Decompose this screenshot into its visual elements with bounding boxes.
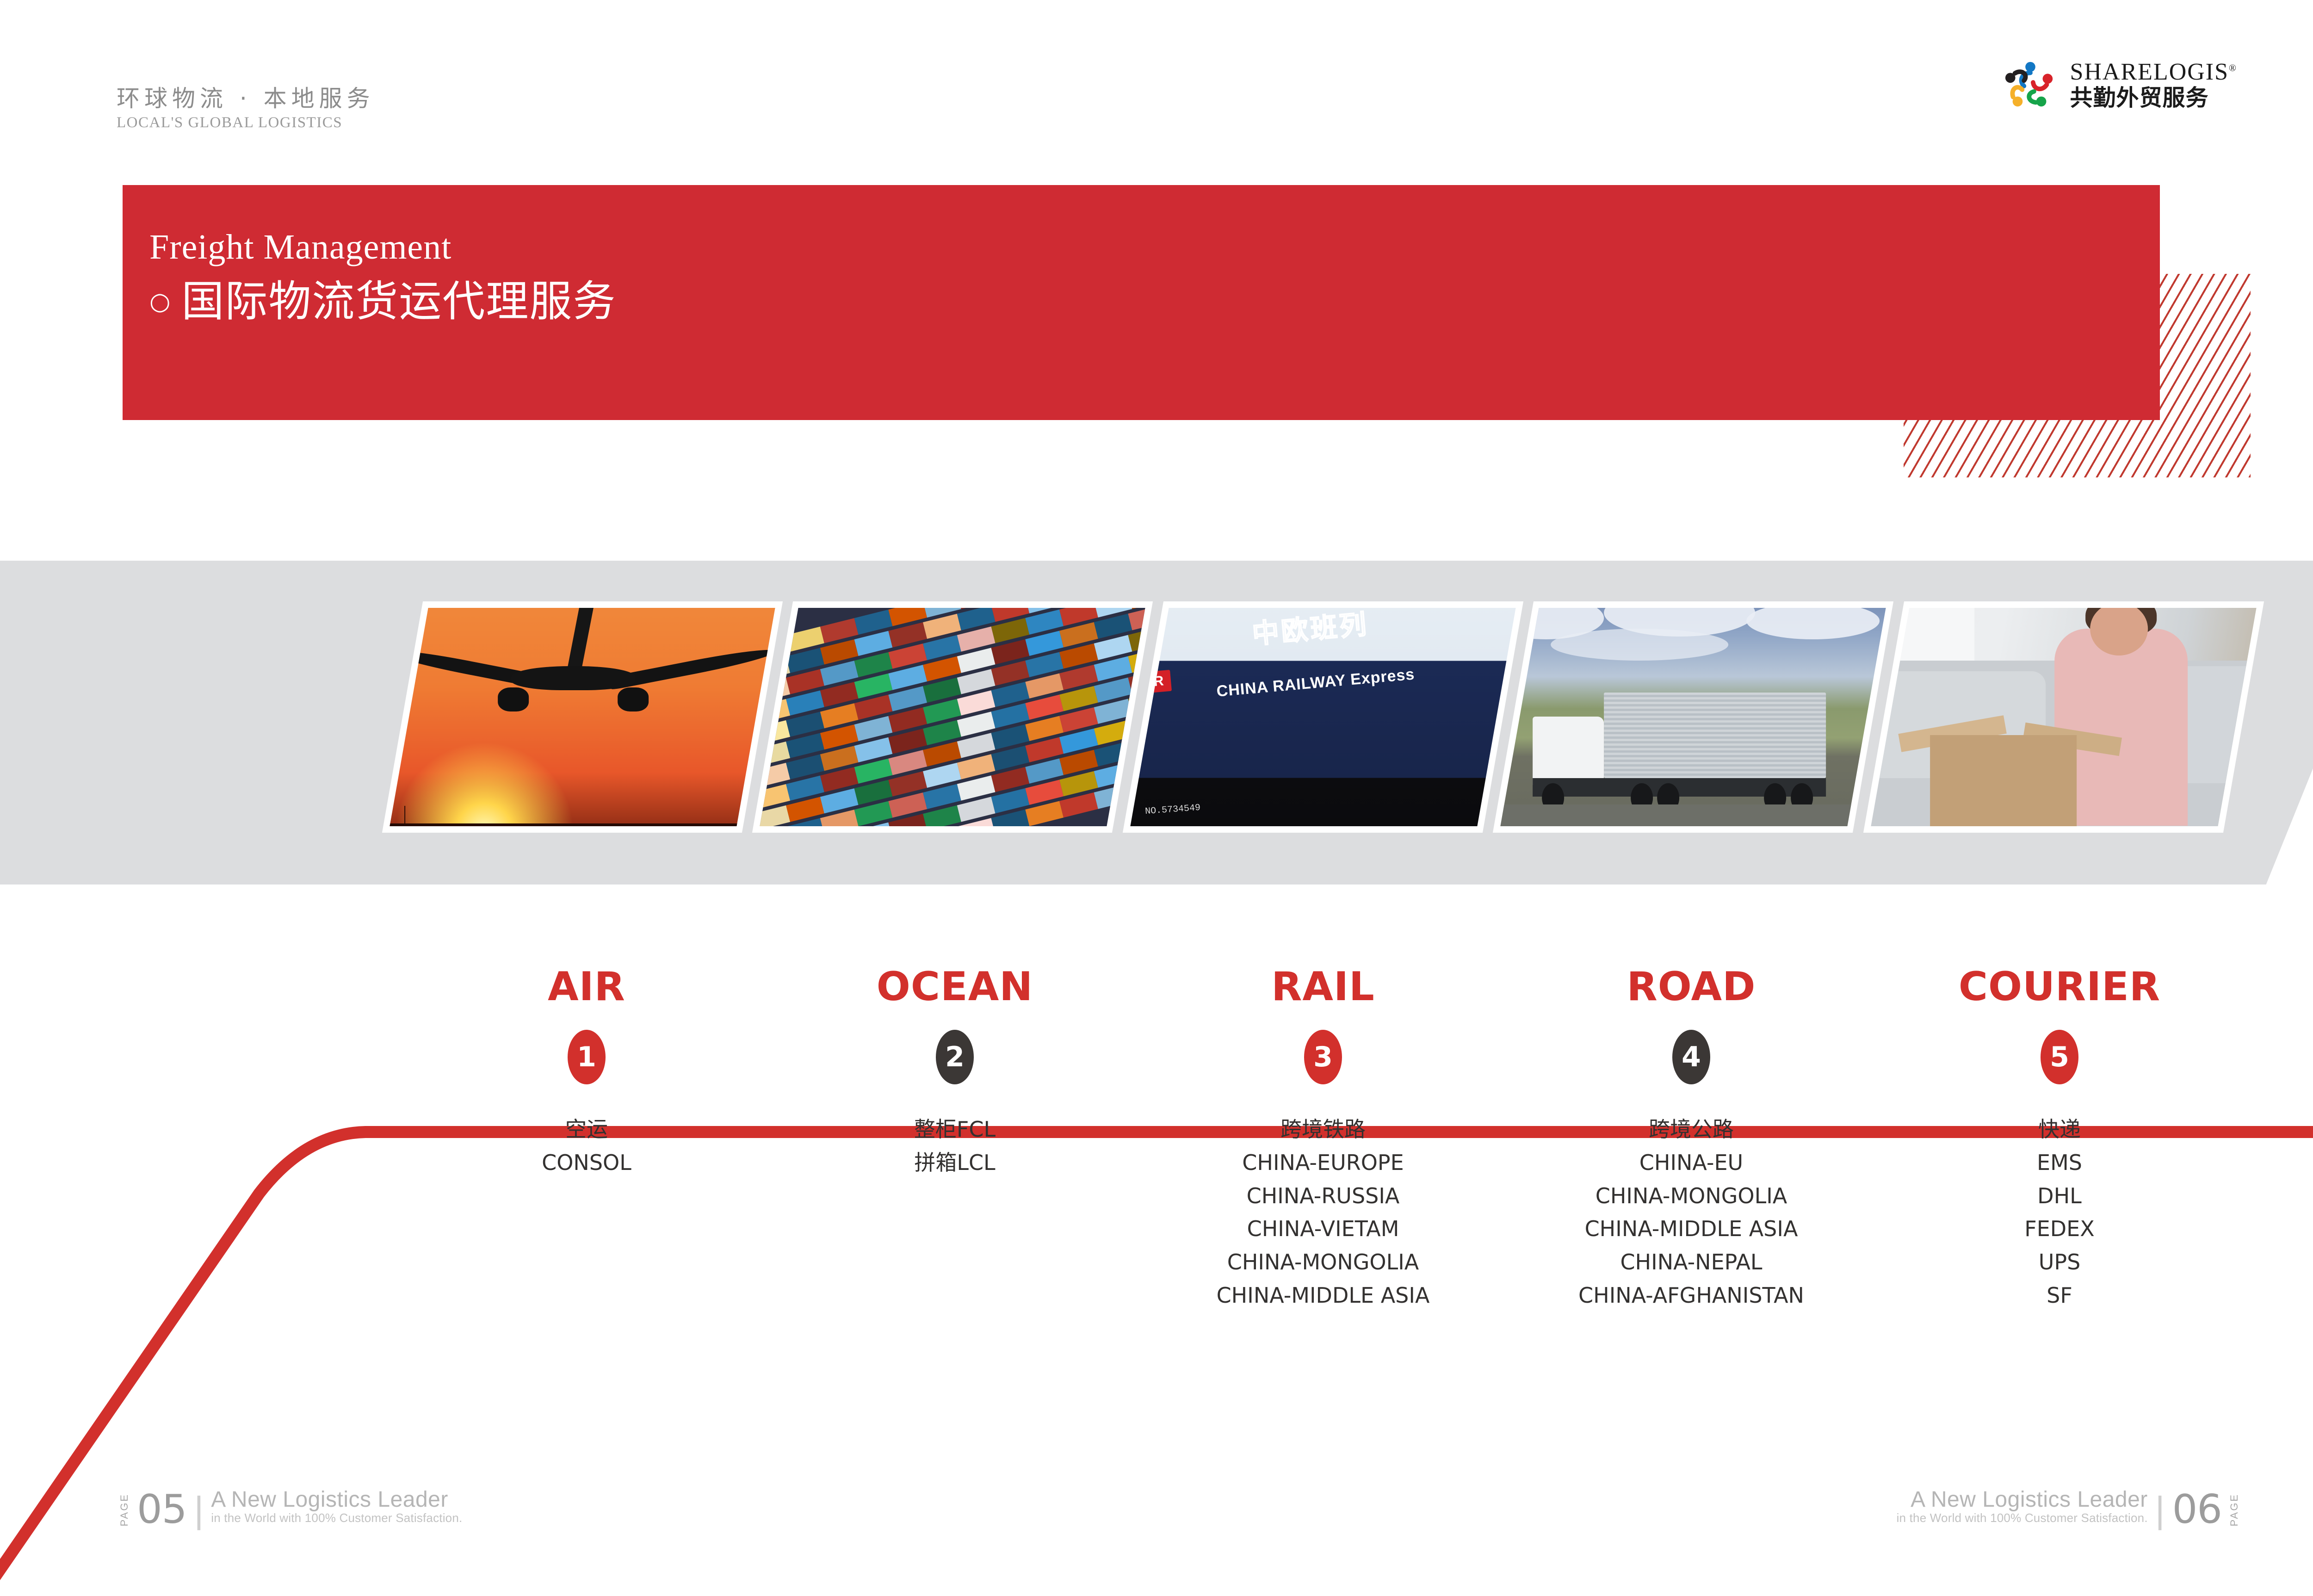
timeline-marker-3[interactable]: 3 <box>1304 1030 1342 1084</box>
banner-bullet-icon: ○ <box>149 290 171 314</box>
footer-right: A New Logistics Leader in the World with… <box>1897 1489 2239 1527</box>
list-item: CHINA-VIETAM <box>1217 1212 1430 1246</box>
list-item: CHINA-MIDDLE ASIA <box>1578 1212 1804 1246</box>
mode-items-road: 跨境公路 CHINA-EU CHINA-MONGOLIA CHINA-MIDDL… <box>1578 1113 1804 1312</box>
banner-title-cn: 国际物流货运代理服务 <box>181 280 616 323</box>
list-item: UPS <box>2024 1246 2095 1279</box>
section-banner: Freight Management ○ 国际物流货运代理服务 <box>123 185 2160 420</box>
list-item: 整柜FCL <box>914 1113 996 1146</box>
transport-photo-strip: 中欧班列 CR CHINA RAILWAY Express NO.5734549 <box>402 601 2244 833</box>
mode-items-air: 空运 CONSOL <box>542 1113 631 1180</box>
slide-root: 环球物流 · 本地服务 LOCAL'S GLOBAL LOGISTICS <box>0 0 2313 1596</box>
timeline-marker-4[interactable]: 4 <box>1672 1030 1710 1084</box>
footer-slogan-line1: A New Logistics Leader <box>1911 1489 2148 1511</box>
list-item: CHINA-NEPAL <box>1578 1246 1804 1279</box>
photo-road <box>1493 601 1894 833</box>
brand-tagline: 环球物流 · 本地服务 LOCAL'S GLOBAL LOGISTICS <box>117 86 440 131</box>
list-item: 快递 <box>2024 1113 2095 1146</box>
list-item: CHINA-MONGOLIA <box>1217 1246 1430 1279</box>
list-item: CHINA-AFGHANISTAN <box>1578 1279 1804 1312</box>
footer-slogan-line2: in the World with 100% Customer Satisfac… <box>1897 1511 2148 1525</box>
footer-slogan-line1: A New Logistics Leader <box>211 1489 462 1511</box>
section-banner-text: Freight Management ○ 国际物流货运代理服务 <box>149 229 616 323</box>
list-item: SF <box>2024 1279 2095 1312</box>
footer-slogan-right: A New Logistics Leader in the World with… <box>1897 1489 2148 1527</box>
rail-container-cn-text: 中欧班列 <box>1250 608 1369 651</box>
page-number-right: 06 <box>2172 1493 2222 1527</box>
timeline-col-rail[interactable]: RAIL 3 跨境铁路 CHINA-EUROPE CHINA-RUSSIA CH… <box>1139 967 1507 1312</box>
timeline-col-ocean[interactable]: OCEAN 2 整柜FCL 拼箱LCL <box>771 967 1139 1312</box>
rail-container-serial: NO.5734549 <box>1144 803 1200 817</box>
list-item: 跨境公路 <box>1578 1113 1804 1146</box>
mode-label-courier: COURIER <box>1959 967 2160 1007</box>
list-item: DHL <box>2024 1180 2095 1213</box>
footer-slogan-line2: in the World with 100% Customer Satisfac… <box>211 1511 462 1525</box>
timeline-marker-5[interactable]: 5 <box>2041 1030 2078 1084</box>
timeline-col-air[interactable]: AIR 1 空运 CONSOL <box>402 967 771 1312</box>
mode-items-rail: 跨境铁路 CHINA-EUROPE CHINA-RUSSIA CHINA-VIE… <box>1217 1113 1430 1312</box>
list-item: CHINA-RUSSIA <box>1217 1180 1430 1213</box>
rail-container-en-text: CHINA RAILWAY Express <box>1216 665 1416 700</box>
photo-air <box>382 601 783 833</box>
timeline-marker-1[interactable]: 1 <box>568 1030 606 1084</box>
list-item: 拼箱LCL <box>914 1146 996 1180</box>
list-item: FEDEX <box>2024 1212 2095 1246</box>
page-label-left: PAGE <box>119 1491 130 1527</box>
brand-tagline-cn: 环球物流 · 本地服务 <box>117 86 440 112</box>
list-item: CHINA-EUROPE <box>1217 1146 1430 1180</box>
footer-divider-left: | <box>194 1493 204 1527</box>
page-number-left: 05 <box>137 1493 186 1527</box>
mode-items-courier: 快递 EMS DHL FEDEX UPS SF <box>2024 1113 2095 1312</box>
photo-rail: 中欧班列 CR CHINA RAILWAY Express NO.5734549 <box>1123 601 1524 833</box>
list-item: EMS <box>2024 1146 2095 1180</box>
list-item: CHINA-MONGOLIA <box>1578 1180 1804 1213</box>
list-item: CHINA-EU <box>1578 1146 1804 1180</box>
mode-label-ocean: OCEAN <box>877 967 1033 1007</box>
photo-ocean <box>752 601 1153 833</box>
timeline-col-courier[interactable]: COURIER 5 快递 EMS DHL FEDEX UPS SF <box>1875 967 2244 1312</box>
list-item: 跨境铁路 <box>1217 1113 1430 1146</box>
banner-title: ○ 国际物流货运代理服务 <box>149 280 616 323</box>
mode-items-ocean: 整柜FCL 拼箱LCL <box>914 1113 996 1180</box>
logo-name-cn: 共勤外贸服务 <box>2070 86 2237 110</box>
page-label-right: PAGE <box>2229 1491 2239 1527</box>
logo-wordmark: SHARELOGIS® 共勤外贸服务 <box>2070 60 2237 110</box>
photo-courier <box>1863 601 2264 833</box>
transport-modes-timeline: AIR 1 空运 CONSOL OCEAN 2 整柜FCL 拼箱LCL RAIL… <box>402 967 2244 1312</box>
list-item: CONSOL <box>542 1146 631 1180</box>
banner-kicker: Freight Management <box>149 229 616 265</box>
footer-slogan-left: A New Logistics Leader in the World with… <box>211 1489 462 1527</box>
timeline-col-road[interactable]: ROAD 4 跨境公路 CHINA-EU CHINA-MONGOLIA CHIN… <box>1507 967 1875 1312</box>
logo-name-en: SHARELOGIS® <box>2070 60 2237 84</box>
list-item: CHINA-MIDDLE ASIA <box>1217 1279 1430 1312</box>
brand-tagline-en: LOCAL'S GLOBAL LOGISTICS <box>117 114 440 131</box>
mode-label-air: AIR <box>548 967 625 1007</box>
footer-divider-right: | <box>2155 1493 2165 1527</box>
mode-label-rail: RAIL <box>1271 967 1375 1007</box>
company-logo: SHARELOGIS® 共勤外贸服务 <box>2003 58 2237 112</box>
footer-left: PAGE 05 | A New Logistics Leader in the … <box>119 1489 462 1527</box>
sharelogis-people-circle-icon <box>2003 58 2058 112</box>
timeline-marker-2[interactable]: 2 <box>936 1030 974 1084</box>
list-item: 空运 <box>542 1113 631 1146</box>
mode-label-road: ROAD <box>1627 967 1756 1007</box>
rail-cr-badge: CR <box>1135 670 1172 694</box>
